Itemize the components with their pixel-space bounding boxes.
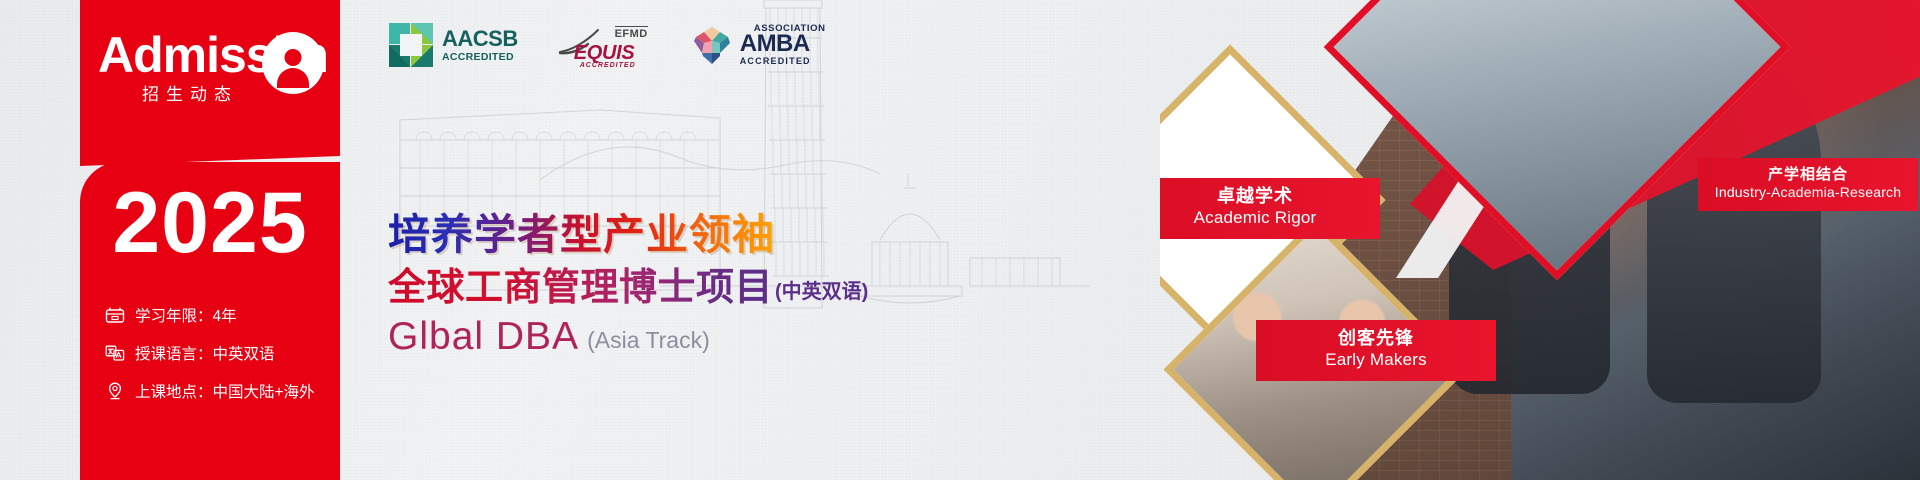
amba-logo-icon	[690, 23, 734, 67]
headline-program-cn-suffix: (中英双语)	[775, 275, 868, 309]
equis-sub: ACCREDITED	[580, 62, 636, 69]
accreditation-logos: AACSB ACCREDITED EFMD EQUIS ACCREDITED	[388, 22, 826, 68]
aacsb-sub: ACCREDITED	[442, 52, 518, 63]
feature-tag-early-makers: 创客先锋 Early Makers	[1256, 320, 1496, 381]
headline-program-row: 全球工商管理博士项目 (中英双语)	[388, 267, 868, 309]
avatar-head-shape	[285, 49, 302, 66]
info-row-duration: 学习年限：4年	[104, 296, 340, 334]
headline-program-en-suffix: (Asia Track)	[587, 327, 710, 359]
feature-tag-industry-academia: 产学相结合 Industry-Academia-Research	[1698, 158, 1918, 211]
headline-block: 培养学者型产业领袖 全球工商管理博士项目 (中英双语) Glbal DBA (A…	[388, 212, 868, 359]
calendar-icon	[104, 304, 126, 326]
aacsb-text: AACSB ACCREDITED	[442, 28, 518, 63]
feature-tag-early-makers-en: Early Makers	[1270, 350, 1482, 371]
info-text-location: 上课地点：中国大陆+海外	[135, 380, 315, 402]
accreditation-equis: EFMD EQUIS ACCREDITED	[558, 22, 650, 68]
year-label: 2025	[80, 180, 340, 266]
headline-program-en: Glbal DBA	[388, 315, 579, 359]
aacsb-logo-icon	[388, 22, 434, 68]
person-avatar-icon	[262, 32, 324, 94]
admission-logo-chinese: 招生动态	[142, 80, 238, 105]
left-red-panel: Admissi n 招生动态 2025 学习年限：4年	[80, 0, 340, 480]
headline-program-en-row: Glbal DBA (Asia Track)	[388, 315, 868, 359]
info-row-location: 上课地点：中国大陆+海外	[104, 372, 340, 410]
avatar-body-shape	[277, 68, 309, 88]
feature-tag-industry-academia-en: Industry-Academia-Research	[1712, 184, 1904, 201]
equis-logo-icon: EFMD EQUIS ACCREDITED	[558, 22, 650, 68]
info-row-language: 授课语言：中英双语	[104, 334, 340, 372]
amba-text: ASSOCIATION AMBA ACCREDITED	[740, 24, 826, 66]
headline-program-cn: 全球工商管理博士项目	[388, 267, 773, 309]
program-info-list: 学习年限：4年 授课语言：中英双语	[104, 296, 340, 410]
feature-tag-academic-rigor: 卓越学术 Academic Rigor	[1160, 178, 1380, 239]
photo-collage: 卓越学术 Academic Rigor 产学相结合 Industry-Acade…	[1160, 0, 1920, 480]
feature-tag-academic-rigor-en: Academic Rigor	[1160, 208, 1366, 229]
location-pin-icon	[104, 380, 126, 402]
feature-tag-early-makers-cn: 创客先锋	[1270, 328, 1482, 350]
info-text-duration: 学习年限：4年	[135, 304, 237, 326]
admission-banner: Admissi n 招生动态 2025 学习年限：4年	[0, 0, 1920, 480]
accreditation-amba: ASSOCIATION AMBA ACCREDITED	[690, 23, 826, 67]
info-text-language: 授课语言：中英双语	[135, 342, 275, 364]
efmd-label: EFMD	[615, 28, 648, 40]
center-content: AACSB ACCREDITED EFMD EQUIS ACCREDITED	[340, 0, 1160, 480]
accreditation-aacsb: AACSB ACCREDITED	[388, 22, 518, 68]
admission-logo: Admissi n 招生动态	[98, 28, 328, 112]
amba-sub: ACCREDITED	[740, 57, 826, 66]
amba-name: AMBA	[740, 32, 826, 56]
feature-tag-academic-rigor-cn: 卓越学术	[1160, 186, 1366, 208]
language-icon	[104, 342, 126, 364]
headline-tagline: 培养学者型产业领袖	[388, 212, 868, 258]
feature-tag-industry-academia-cn: 产学相结合	[1712, 166, 1904, 184]
aacsb-name: AACSB	[442, 28, 518, 50]
